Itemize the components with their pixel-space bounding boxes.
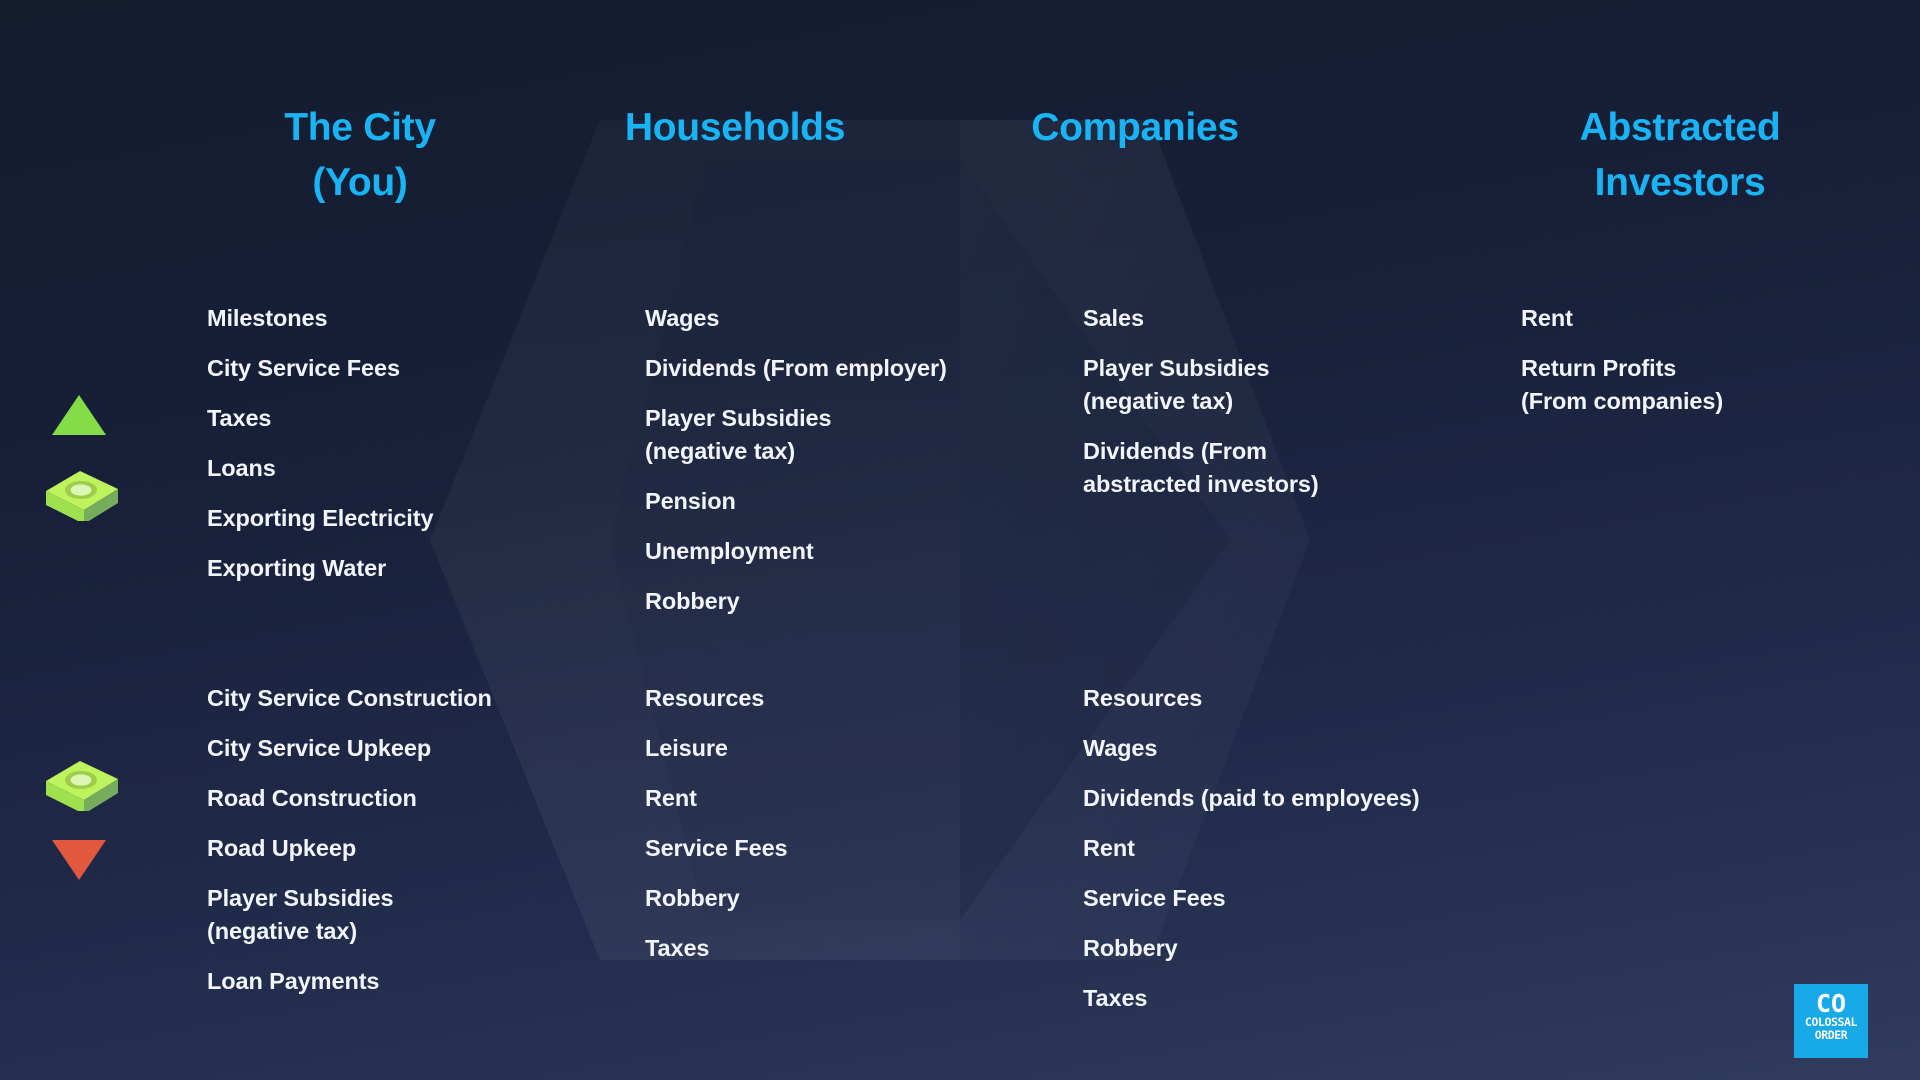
list-item: Loans: [207, 452, 537, 485]
list-item: Robbery: [645, 882, 975, 915]
list-item: Leisure: [645, 732, 975, 765]
logo-line-2: ORDER: [1800, 1029, 1862, 1042]
list-item: Road Construction: [207, 782, 587, 815]
list-item: Pension: [645, 485, 1025, 518]
list-item: City Service Upkeep: [207, 732, 587, 765]
money-stack-icon: [38, 745, 122, 811]
list-item: Unemployment: [645, 535, 1025, 568]
list-item: Exporting Water: [207, 552, 537, 585]
income-legend-group: [52, 395, 106, 435]
expense-legend-group: [52, 840, 106, 880]
expense-money-stack: [38, 745, 122, 816]
list-item: Rent: [1521, 302, 1851, 335]
expense-list-households: Resources Leisure Rent Service Fees Robb…: [645, 682, 975, 982]
list-item: Player Subsidies (negative tax): [207, 882, 587, 948]
list-item: Robbery: [645, 585, 1025, 618]
list-item: Sales: [1083, 302, 1413, 335]
expense-list-city: City Service Construction City Service U…: [207, 682, 587, 1015]
income-list-households: Wages Dividends (From employer) Player S…: [645, 302, 1025, 635]
income-money-stack: [38, 455, 122, 526]
list-item: Rent: [645, 782, 975, 815]
list-item: Loan Payments: [207, 965, 587, 998]
list-item: Resources: [1083, 682, 1503, 715]
income-list-investors: Rent Return Profits (From companies): [1521, 302, 1851, 435]
column-header-households: Households: [565, 100, 905, 155]
column-header-investors: Abstracted Investors: [1535, 100, 1825, 210]
list-item: Taxes: [207, 402, 537, 435]
list-item: Dividends (From abstracted investors): [1083, 435, 1413, 501]
logo-line-1: COLOSSAL: [1800, 1016, 1862, 1029]
list-item: Player Subsidies (negative tax): [1083, 352, 1413, 418]
list-item: Dividends (From employer): [645, 352, 1025, 385]
list-item: City Service Construction: [207, 682, 587, 715]
column-header-companies: Companies: [965, 100, 1305, 155]
triangle-down-icon: [52, 840, 106, 880]
money-stack-icon: [38, 455, 122, 521]
income-list-companies: Sales Player Subsidies (negative tax) Di…: [1083, 302, 1413, 518]
list-item: Taxes: [645, 932, 975, 965]
list-item: Road Upkeep: [207, 832, 587, 865]
list-item: City Service Fees: [207, 352, 537, 385]
list-item: Taxes: [1083, 982, 1503, 1015]
logo-mark: CO: [1800, 991, 1862, 1016]
list-item: Service Fees: [1083, 882, 1503, 915]
triangle-up-icon: [52, 395, 106, 435]
list-item: Wages: [1083, 732, 1503, 765]
list-item: Rent: [1083, 832, 1503, 865]
list-item: Return Profits (From companies): [1521, 352, 1851, 418]
list-item: Dividends (paid to employees): [1083, 782, 1503, 815]
expense-list-companies: Resources Wages Dividends (paid to emplo…: [1083, 682, 1503, 1032]
list-item: Player Subsidies (negative tax): [645, 402, 1025, 468]
income-list-city: Milestones City Service Fees Taxes Loans…: [207, 302, 537, 602]
list-item: Resources: [645, 682, 975, 715]
colossal-order-logo: CO COLOSSAL ORDER: [1794, 984, 1868, 1058]
list-item: Milestones: [207, 302, 537, 335]
list-item: Robbery: [1083, 932, 1503, 965]
list-item: Exporting Electricity: [207, 502, 537, 535]
column-header-city: The City (You): [230, 100, 490, 210]
list-item: Wages: [645, 302, 1025, 335]
list-item: Service Fees: [645, 832, 975, 865]
